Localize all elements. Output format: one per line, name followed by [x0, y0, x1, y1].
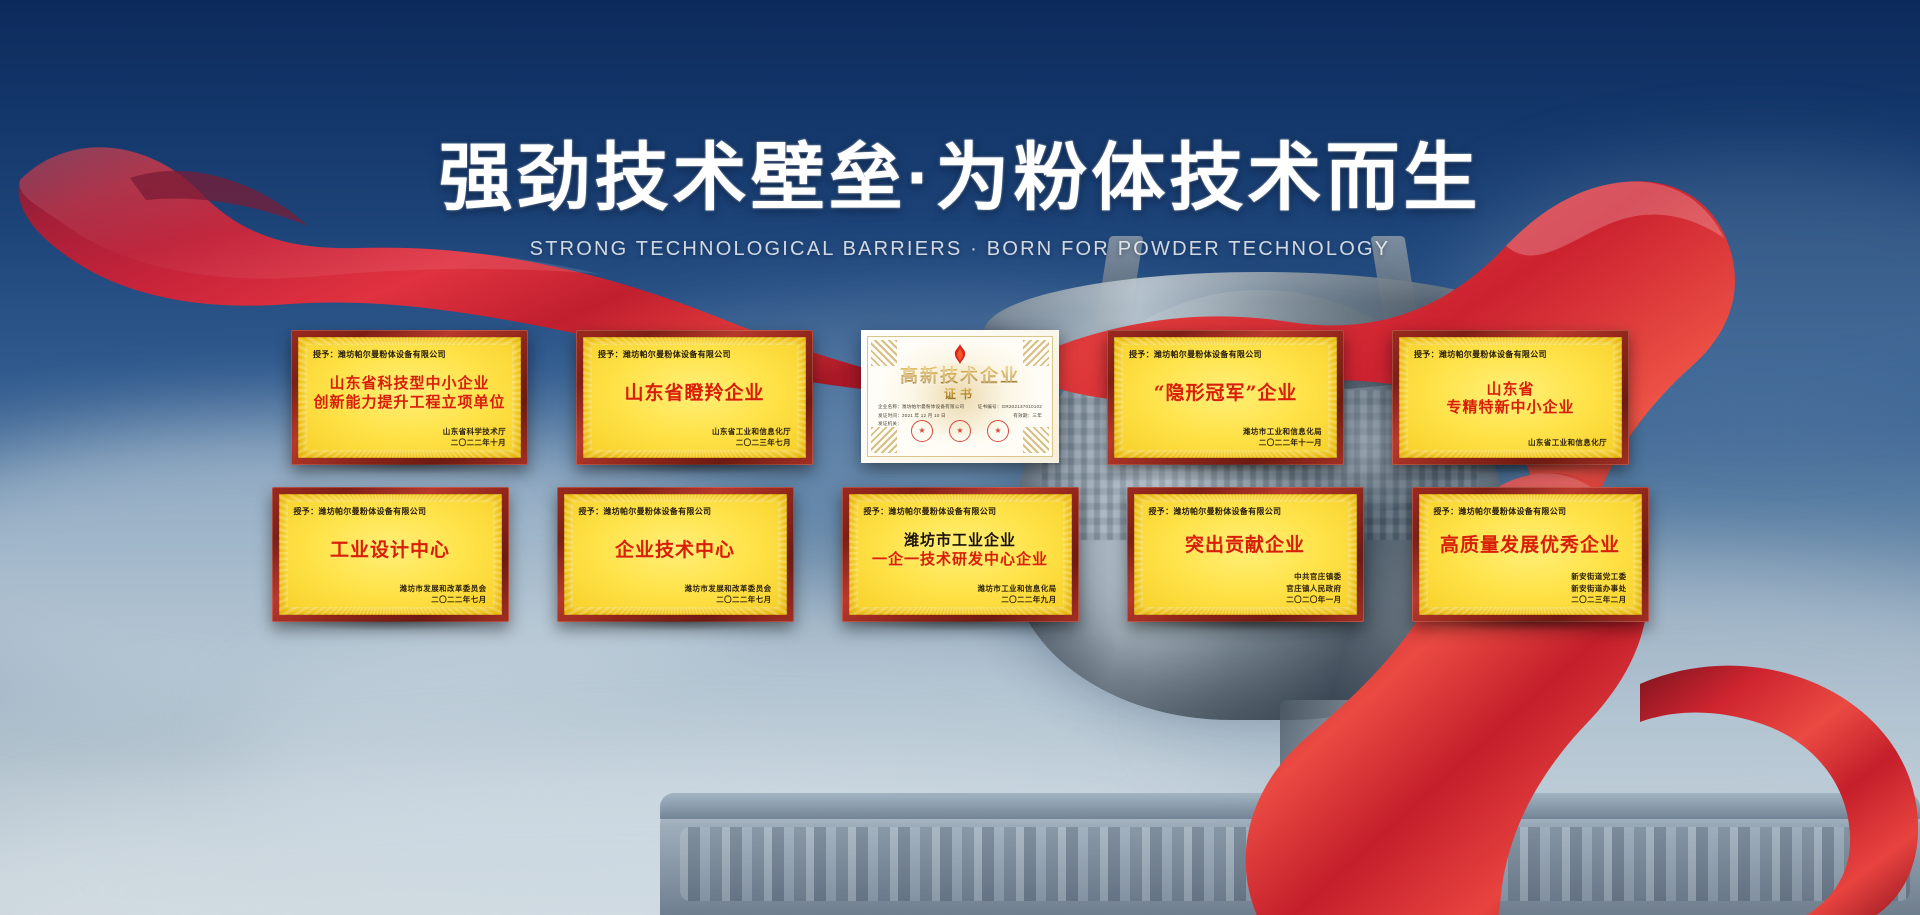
plaque-issuer: 山东省工业和信息化厅 — [1414, 437, 1607, 448]
high-tech-enterprise-certificate[interactable]: 高新技术企业 证书 企业名称：潍坊帕尔曼粉体设备有限公司 证书编号：GR2021… — [861, 330, 1059, 463]
plaque-issuer: 山东省工业和信息化厅 — [598, 426, 791, 437]
award-plaque[interactable]: 授予：潍坊帕尔曼粉体设备有限公司 潍坊市工业企业 一企一技术研发中心企业 潍坊市… — [842, 487, 1079, 622]
plaque-date: 二〇二〇年一月 — [1149, 594, 1342, 605]
certificate-inner: 高新技术企业 证书 企业名称：潍坊帕尔曼粉体设备有限公司 证书编号：GR2021… — [867, 336, 1053, 457]
plaque-gold-panel: 授予：潍坊帕尔曼粉体设备有限公司 山东省科技型中小企业 创新能力提升工程立项单位… — [298, 337, 521, 458]
plaque-title-line: 企业技术中心 — [615, 539, 735, 561]
plaque-gold-panel: 授予：潍坊帕尔曼粉体设备有限公司 企业技术中心 潍坊市发展和改革委员会 二〇二二… — [564, 494, 787, 615]
certificate-seals — [868, 420, 1052, 442]
plaque-issuer: 潍坊市发展和改革委员会 — [294, 583, 487, 594]
plaque-title-line: 山东省瞪羚企业 — [624, 382, 764, 404]
plaque-footer: 山东省科学技术厅 二〇二二年十月 — [313, 426, 506, 449]
plaque-title-line: 专精特新中小企业 — [1446, 399, 1574, 416]
award-plaque[interactable]: 授予：潍坊帕尔曼粉体设备有限公司 突出贡献企业 中共官庄镇委 官庄镇人民政府 二… — [1127, 487, 1364, 622]
flame-icon — [952, 344, 968, 364]
plaque-title: 山东省科技型中小企业 创新能力提升工程立项单位 — [313, 360, 506, 426]
plaque-title-line: 高质量发展优秀企业 — [1440, 534, 1620, 556]
plaque-footer: 山东省工业和信息化厅 — [1414, 437, 1607, 448]
awards-row-2: 授予：潍坊帕尔曼粉体设备有限公司 工业设计中心 潍坊市发展和改革委员会 二〇二二… — [0, 487, 1920, 622]
plaque-title: 潍坊市工业企业 一企一技术研发中心企业 — [864, 517, 1057, 583]
plaque-title: 突出贡献企业 — [1149, 517, 1342, 571]
official-seal-icon — [911, 420, 933, 442]
plaque-gold-panel: 授予：潍坊帕尔曼粉体设备有限公司 高质量发展优秀企业 新安街道党工委 新安街道办… — [1419, 494, 1642, 615]
plaque-gold-panel: 授予：潍坊帕尔曼粉体设备有限公司 山东省瞪羚企业 山东省工业和信息化厅 二〇二三… — [583, 337, 806, 458]
plaque-title-line: 突出贡献企业 — [1185, 534, 1305, 556]
plaque-date: 二〇二二年七月 — [294, 594, 487, 605]
plaque-title: 工业设计中心 — [294, 517, 487, 583]
plaque-footer: 潍坊市工业和信息化局 二〇二二年十一月 — [1129, 426, 1322, 449]
plaque-gold-panel: 授予：潍坊帕尔曼粉体设备有限公司 潍坊市工业企业 一企一技术研发中心企业 潍坊市… — [849, 494, 1072, 615]
plaque-gold-panel: 授予：潍坊帕尔曼粉体设备有限公司 山东省 专精特新中小企业 山东省工业和信息化厅 — [1399, 337, 1622, 458]
page-subtitle: STRONG TECHNOLOGICAL BARRIERS · BORN FOR… — [0, 238, 1920, 261]
stone-plinth-top — [660, 793, 1920, 819]
plaque-footer: 潍坊市工业和信息化局 二〇二二年九月 — [864, 583, 1057, 606]
plaque-award-label: 授予：潍坊帕尔曼粉体设备有限公司 — [864, 506, 1057, 517]
award-plaque[interactable]: 授予：潍坊帕尔曼粉体设备有限公司 企业技术中心 潍坊市发展和改革委员会 二〇二二… — [557, 487, 794, 622]
plaque-gold-panel: 授予：潍坊帕尔曼粉体设备有限公司 工业设计中心 潍坊市发展和改革委员会 二〇二二… — [279, 494, 502, 615]
plaque-gold-panel: 授予：潍坊帕尔曼粉体设备有限公司 突出贡献企业 中共官庄镇委 官庄镇人民政府 二… — [1134, 494, 1357, 615]
plaque-title: 高质量发展优秀企业 — [1434, 517, 1627, 571]
plaque-award-label: 授予：潍坊帕尔曼粉体设备有限公司 — [1434, 506, 1627, 517]
headline-block: 强劲技术壁垒·为粉体技术而生 STRONG TECHNOLOGICAL BARR… — [0, 138, 1920, 261]
plaque-date: 二〇二二年九月 — [864, 594, 1057, 605]
plaque-title-line: “隐形冠军”企业 — [1154, 382, 1298, 404]
plaque-award-label: 授予：潍坊帕尔曼粉体设备有限公司 — [598, 349, 791, 360]
plaque-issuer-2: 新安街道办事处 — [1434, 583, 1627, 594]
plaque-issuer: 潍坊市工业和信息化局 — [1129, 426, 1322, 437]
plaque-title: 企业技术中心 — [579, 517, 772, 583]
plaque-title-line: 一企一技术研发中心企业 — [872, 551, 1048, 568]
award-plaque[interactable]: 授予：潍坊帕尔曼粉体设备有限公司 山东省 专精特新中小企业 山东省工业和信息化厅 — [1392, 330, 1629, 465]
stone-plinth-carving — [680, 827, 1910, 901]
plaque-footer: 中共官庄镇委 官庄镇人民政府 二〇二〇年一月 — [1149, 571, 1342, 605]
honors-banner: 强劲技术壁垒·为粉体技术而生 STRONG TECHNOLOGICAL BARR… — [0, 0, 1920, 915]
plaque-date: 二〇二三年二月 — [1434, 594, 1627, 605]
plaque-footer: 潍坊市发展和改革委员会 二〇二二年七月 — [294, 583, 487, 606]
award-plaque[interactable]: 授予：潍坊帕尔曼粉体设备有限公司 高质量发展优秀企业 新安街道党工委 新安街道办… — [1412, 487, 1649, 622]
page-title: 强劲技术壁垒·为粉体技术而生 — [0, 138, 1920, 218]
certificate-field: 证书编号：GR202137010102 — [978, 403, 1042, 412]
awards-row-1: 授予：潍坊帕尔曼粉体设备有限公司 山东省科技型中小企业 创新能力提升工程立项单位… — [0, 330, 1920, 465]
certificate-field-row: 企业名称：潍坊帕尔曼粉体设备有限公司 证书编号：GR202137010102 — [878, 403, 1042, 412]
award-plaque[interactable]: 授予：潍坊帕尔曼粉体设备有限公司 “隐形冠军”企业 潍坊市工业和信息化局 二〇二… — [1107, 330, 1344, 465]
plaque-footer: 潍坊市发展和改革委员会 二〇二二年七月 — [579, 583, 772, 606]
plaque-issuer: 新安街道党工委 — [1434, 571, 1627, 582]
plaque-date: 二〇二二年十一月 — [1129, 437, 1322, 448]
plaque-title-line: 工业设计中心 — [330, 539, 450, 561]
award-plaque[interactable]: 授予：潍坊帕尔曼粉体设备有限公司 山东省科技型中小企业 创新能力提升工程立项单位… — [291, 330, 528, 465]
official-seal-icon — [987, 420, 1009, 442]
certificate-subtitle: 证书 — [868, 385, 1052, 402]
plaque-award-label: 授予：潍坊帕尔曼粉体设备有限公司 — [313, 349, 506, 360]
plaque-award-label: 授予：潍坊帕尔曼粉体设备有限公司 — [579, 506, 772, 517]
plaque-issuer: 中共官庄镇委 — [1149, 571, 1342, 582]
plaque-award-label: 授予：潍坊帕尔曼粉体设备有限公司 — [294, 506, 487, 517]
plaque-title: 山东省瞪羚企业 — [598, 360, 791, 426]
plaque-footer: 新安街道党工委 新安街道办事处 二〇二三年二月 — [1434, 571, 1627, 605]
plaque-title: “隐形冠军”企业 — [1129, 360, 1322, 426]
plaque-issuer-2: 官庄镇人民政府 — [1149, 583, 1342, 594]
plaque-issuer: 潍坊市工业和信息化局 — [864, 583, 1057, 594]
plaque-date: 二〇二三年七月 — [598, 437, 791, 448]
plaque-title-line: 潍坊市工业企业 — [904, 532, 1016, 549]
award-plaque[interactable]: 授予：潍坊帕尔曼粉体设备有限公司 山东省瞪羚企业 山东省工业和信息化厅 二〇二三… — [576, 330, 813, 465]
certificate-field: 企业名称：潍坊帕尔曼粉体设备有限公司 — [878, 403, 964, 412]
plaque-award-label: 授予：潍坊帕尔曼粉体设备有限公司 — [1414, 349, 1607, 360]
plaque-title-line: 创新能力提升工程立项单位 — [313, 394, 505, 411]
ding-foot — [1280, 700, 1520, 790]
plaque-footer: 山东省工业和信息化厅 二〇二三年七月 — [598, 426, 791, 449]
plaque-award-label: 授予：潍坊帕尔曼粉体设备有限公司 — [1129, 349, 1322, 360]
plaque-issuer: 潍坊市发展和改革委员会 — [579, 583, 772, 594]
plaque-award-label: 授予：潍坊帕尔曼粉体设备有限公司 — [1149, 506, 1342, 517]
plaque-title-line: 山东省 — [1486, 381, 1534, 398]
plaque-date: 二〇二二年十月 — [313, 437, 506, 448]
plaque-title-line: 山东省科技型中小企业 — [329, 375, 489, 392]
official-seal-icon — [949, 420, 971, 442]
awards-grid: 授予：潍坊帕尔曼粉体设备有限公司 山东省科技型中小企业 创新能力提升工程立项单位… — [0, 330, 1920, 622]
plaque-gold-panel: 授予：潍坊帕尔曼粉体设备有限公司 “隐形冠军”企业 潍坊市工业和信息化局 二〇二… — [1114, 337, 1337, 458]
plaque-issuer: 山东省科学技术厅 — [313, 426, 506, 437]
award-plaque[interactable]: 授予：潍坊帕尔曼粉体设备有限公司 工业设计中心 潍坊市发展和改革委员会 二〇二二… — [272, 487, 509, 622]
plaque-date: 二〇二二年七月 — [579, 594, 772, 605]
plaque-title: 山东省 专精特新中小企业 — [1414, 360, 1607, 437]
